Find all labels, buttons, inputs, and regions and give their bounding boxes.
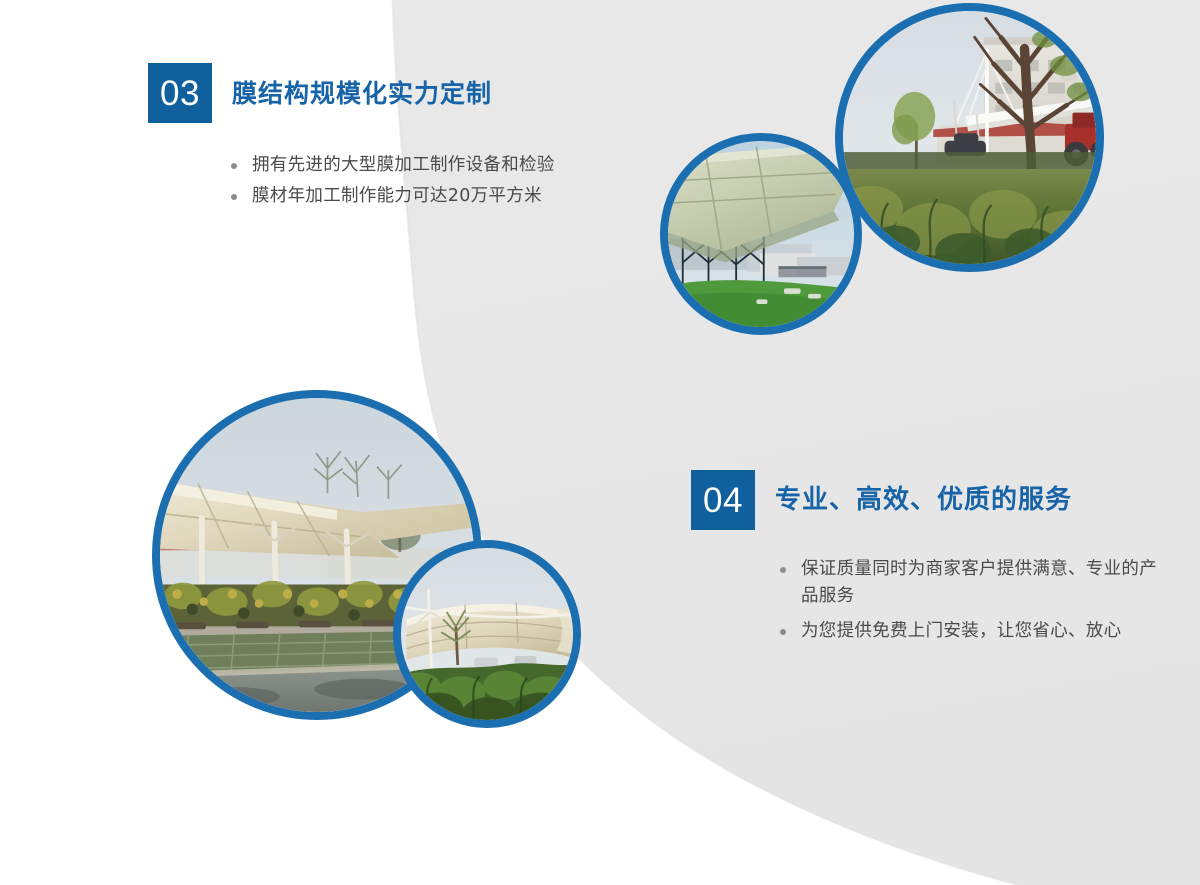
section-03-title: 膜结构规模化实力定制	[232, 81, 492, 106]
photo-top-large-image	[843, 11, 1096, 264]
section-04-number-badge: 04	[691, 470, 755, 530]
section-03-bullet-item: 膜材年加工制作能力可达20万平方米	[228, 183, 668, 210]
photo-circle-top-small[interactable]	[660, 133, 862, 335]
section-04-bullet-item: 为您提供免费上门安装，让您省心、放心	[777, 618, 1161, 645]
section-04-header: 04 专业、高效、优质的服务	[691, 470, 1161, 530]
section-03-number-badge: 03	[148, 63, 212, 123]
section-04-title: 专业、高效、优质的服务	[775, 487, 1072, 513]
section-04-bullet-list: 保证质量同时为商家客户提供满意、专业的产品服务 为您提供免费上门安装，让您省心、…	[777, 556, 1161, 645]
photo-circle-bottom-small[interactable]	[393, 540, 581, 728]
section-04-bullet-item: 保证质量同时为商家客户提供满意、专业的产品服务	[777, 556, 1161, 610]
photo-bottom-small-image	[401, 548, 573, 720]
photo-circle-top-large[interactable]	[835, 3, 1104, 272]
section-04: 04 专业、高效、优质的服务 保证质量同时为商家客户提供满意、专业的产品服务 为…	[691, 470, 1161, 653]
section-03-bullet-item: 拥有先进的大型膜加工制作设备和检验	[228, 152, 668, 179]
section-03: 03 膜结构规模化实力定制 拥有先进的大型膜加工制作设备和检验 膜材年加工制作能…	[148, 63, 668, 214]
section-03-header: 03 膜结构规模化实力定制	[148, 63, 668, 123]
photo-top-small-image	[668, 141, 854, 327]
section-03-bullet-list: 拥有先进的大型膜加工制作设备和检验 膜材年加工制作能力可达20万平方米	[228, 152, 668, 210]
slide-page: 03 膜结构规模化实力定制 拥有先进的大型膜加工制作设备和检验 膜材年加工制作能…	[0, 0, 1200, 885]
